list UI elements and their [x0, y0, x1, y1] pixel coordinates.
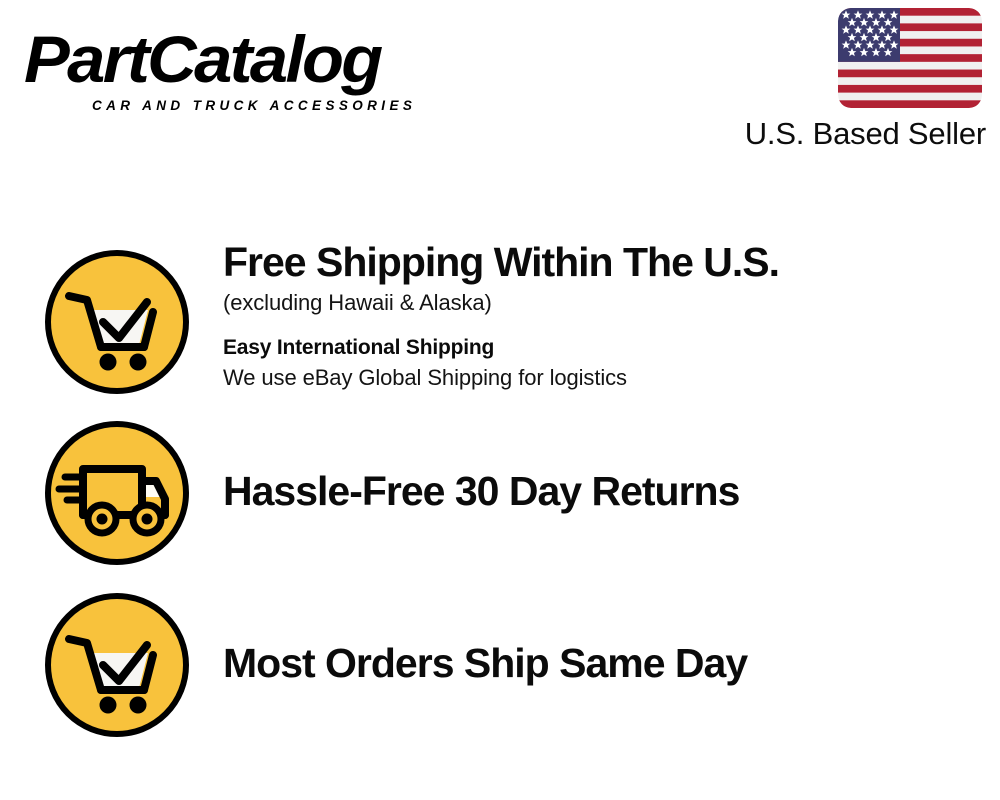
us-based-seller-label: U.S. Based Seller: [500, 116, 986, 152]
same-day-text-block: Most Orders Ship Same Day: [223, 639, 983, 687]
brand-logo: PartCatalog CAR AND TRUCK ACCESSORIES: [24, 22, 494, 114]
delivery-truck-icon: [43, 419, 191, 567]
us-flag-badge: [838, 8, 982, 108]
shopping-cart-check-icon: [43, 248, 191, 396]
delivery-truck-badge: [43, 419, 191, 567]
brand-tagline: CAR AND TRUCK ACCESSORIES: [92, 98, 416, 113]
same-day-title: Most Orders Ship Same Day: [223, 639, 983, 687]
international-shipping-detail: We use eBay Global Shipping for logistic…: [223, 363, 983, 393]
shopping-cart-check-badge: [43, 591, 191, 739]
returns-title: Hassle-Free 30 Day Returns: [223, 467, 983, 515]
free-shipping-subtitle: (excluding Hawaii & Alaska): [223, 288, 983, 318]
shopping-cart-check-badge: [43, 248, 191, 396]
shopping-cart-check-icon: [43, 591, 191, 739]
returns-text-block: Hassle-Free 30 Day Returns: [223, 467, 983, 515]
us-flag-icon: [838, 8, 982, 108]
free-shipping-title: Free Shipping Within The U.S.: [223, 238, 983, 286]
brand-wordmark: PartCatalog: [24, 22, 381, 96]
free-shipping-text-block: Free Shipping Within The U.S. (excluding…: [223, 238, 983, 393]
international-shipping-heading: Easy International Shipping: [223, 333, 983, 363]
